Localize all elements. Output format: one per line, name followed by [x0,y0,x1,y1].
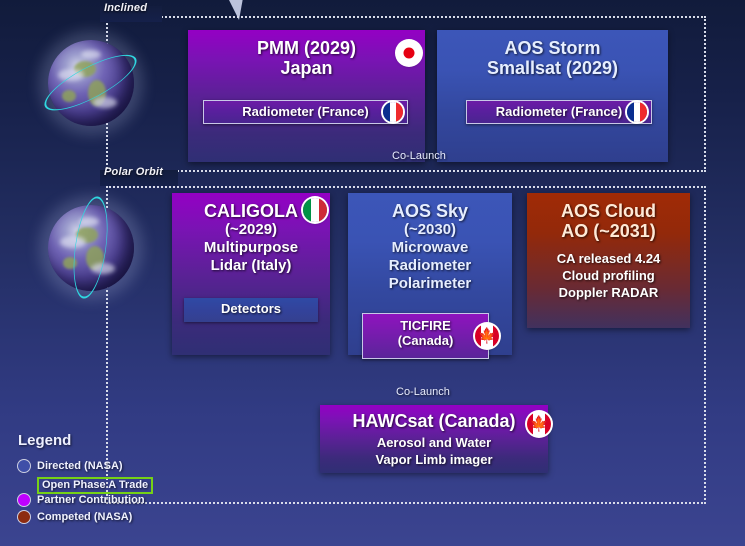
mission-body-line2: Vapor Limb imager [320,452,548,469]
fr-flag-icon [627,102,647,122]
legend-item-open-phase-a-trade: Open Phase A Trade [18,475,153,490]
legend-item-directed: Directed (NASA) [18,458,153,473]
mission-box-aos-cloud-ao[interactable]: AOS Cloud AO (~2031) CA released 4.24 Cl… [527,193,690,328]
instrument-chip-pmm-radiometer[interactable]: Radiometer (France) [203,100,408,124]
mission-body: CA released 4.24 Cloud profiling Doppler… [527,251,690,301]
mission-box-pmm[interactable]: PMM (2029) Japan [188,30,425,162]
mission-title: AOS Sky [348,201,512,221]
mission-box-hawcsat[interactable]: HAWCsat (Canada) Aerosol and Water Vapor… [320,405,548,473]
instrument-chip-ticfire[interactable]: TICFIRE (Canada) [362,313,489,359]
instrument-label: Radiometer (France) [496,104,622,119]
mission-title: AOS Storm [437,38,668,58]
instrument-label: Detectors [221,301,281,316]
mission-body-line3: Doppler RADAR [527,285,690,302]
mission-subtitle: AO (~2031) [527,221,690,241]
ca-flag-icon: 🍁 [475,324,499,348]
legend-swatch-directed-icon [18,460,30,472]
it-flag-icon [303,198,327,222]
instrument-label: Radiometer (France) [242,104,368,119]
legend-item-competed: Competed (NASA) [18,509,153,524]
mission-subtitle-2: Multipurpose [172,239,330,257]
mission-title: PMM (2029) [188,38,425,58]
earth-inclined-icon [48,40,134,126]
fr-flag-icon [383,102,403,122]
instrument-label-line1: TICFIRE [363,319,488,334]
instrument-label-line2: (Canada) [363,334,488,349]
instrument-chip-aos-storm-radiometer[interactable]: Radiometer (France) [466,100,652,124]
maple-leaf-icon: 🍁 [478,329,497,344]
legend-swatch-competed-icon [18,511,30,523]
polar-orbit-label: Polar Orbit [104,166,163,178]
mission-title: AOS Cloud [527,201,690,221]
legend: Legend Directed (NASA) Open Phase A Trad… [18,432,153,526]
mission-subtitle-4: Polarimeter [348,275,512,293]
mission-body-line2: Cloud profiling [527,268,690,285]
jp-flag-icon [397,41,421,65]
mission-subtitle-3: Lidar (Italy) [172,257,330,275]
legend-label: Competed (NASA) [37,511,132,523]
mission-body-line1: CA released 4.24 [527,251,690,268]
mission-body: Aerosol and Water Vapor Limb imager [320,435,548,468]
inclined-orbit-label: Inclined [104,2,147,14]
mission-subtitle-1: (~2030) [348,221,512,239]
colaunch-caption-top: Co-Launch [392,150,446,162]
maple-leaf-icon: 🍁 [530,417,549,432]
legend-swatch-partner-icon [18,494,30,506]
legend-item-partner: Partner Contribution [18,492,153,507]
mission-subtitle-1: (~2029) [172,221,330,239]
mission-body-line1: Aerosol and Water [320,435,548,452]
legend-label: Directed (NASA) [37,460,123,472]
diagram-canvas: Inclined Polar Orbit PMM (2029) Japan [0,0,745,546]
mission-subtitle-2: Microwave [348,239,512,257]
legend-trade-badge: Open Phase A Trade [37,477,153,494]
mission-subtitle-3: Radiometer [348,257,512,275]
mission-subtitle: Japan [188,58,425,78]
mission-box-aos-storm-smallsat[interactable]: AOS Storm Smallsat (2029) [437,30,668,162]
colaunch-caption-bottom: Co-Launch [396,386,450,398]
ca-flag-icon: 🍁 [527,412,551,436]
instrument-chip-caligola-detectors[interactable]: Detectors [184,298,318,322]
legend-title: Legend [18,432,153,449]
mission-title: HAWCsat (Canada) [320,411,548,431]
earth-polar-icon [48,205,134,291]
mission-subtitle: Smallsat (2029) [437,58,668,78]
legend-label: Partner Contribution [37,494,145,506]
